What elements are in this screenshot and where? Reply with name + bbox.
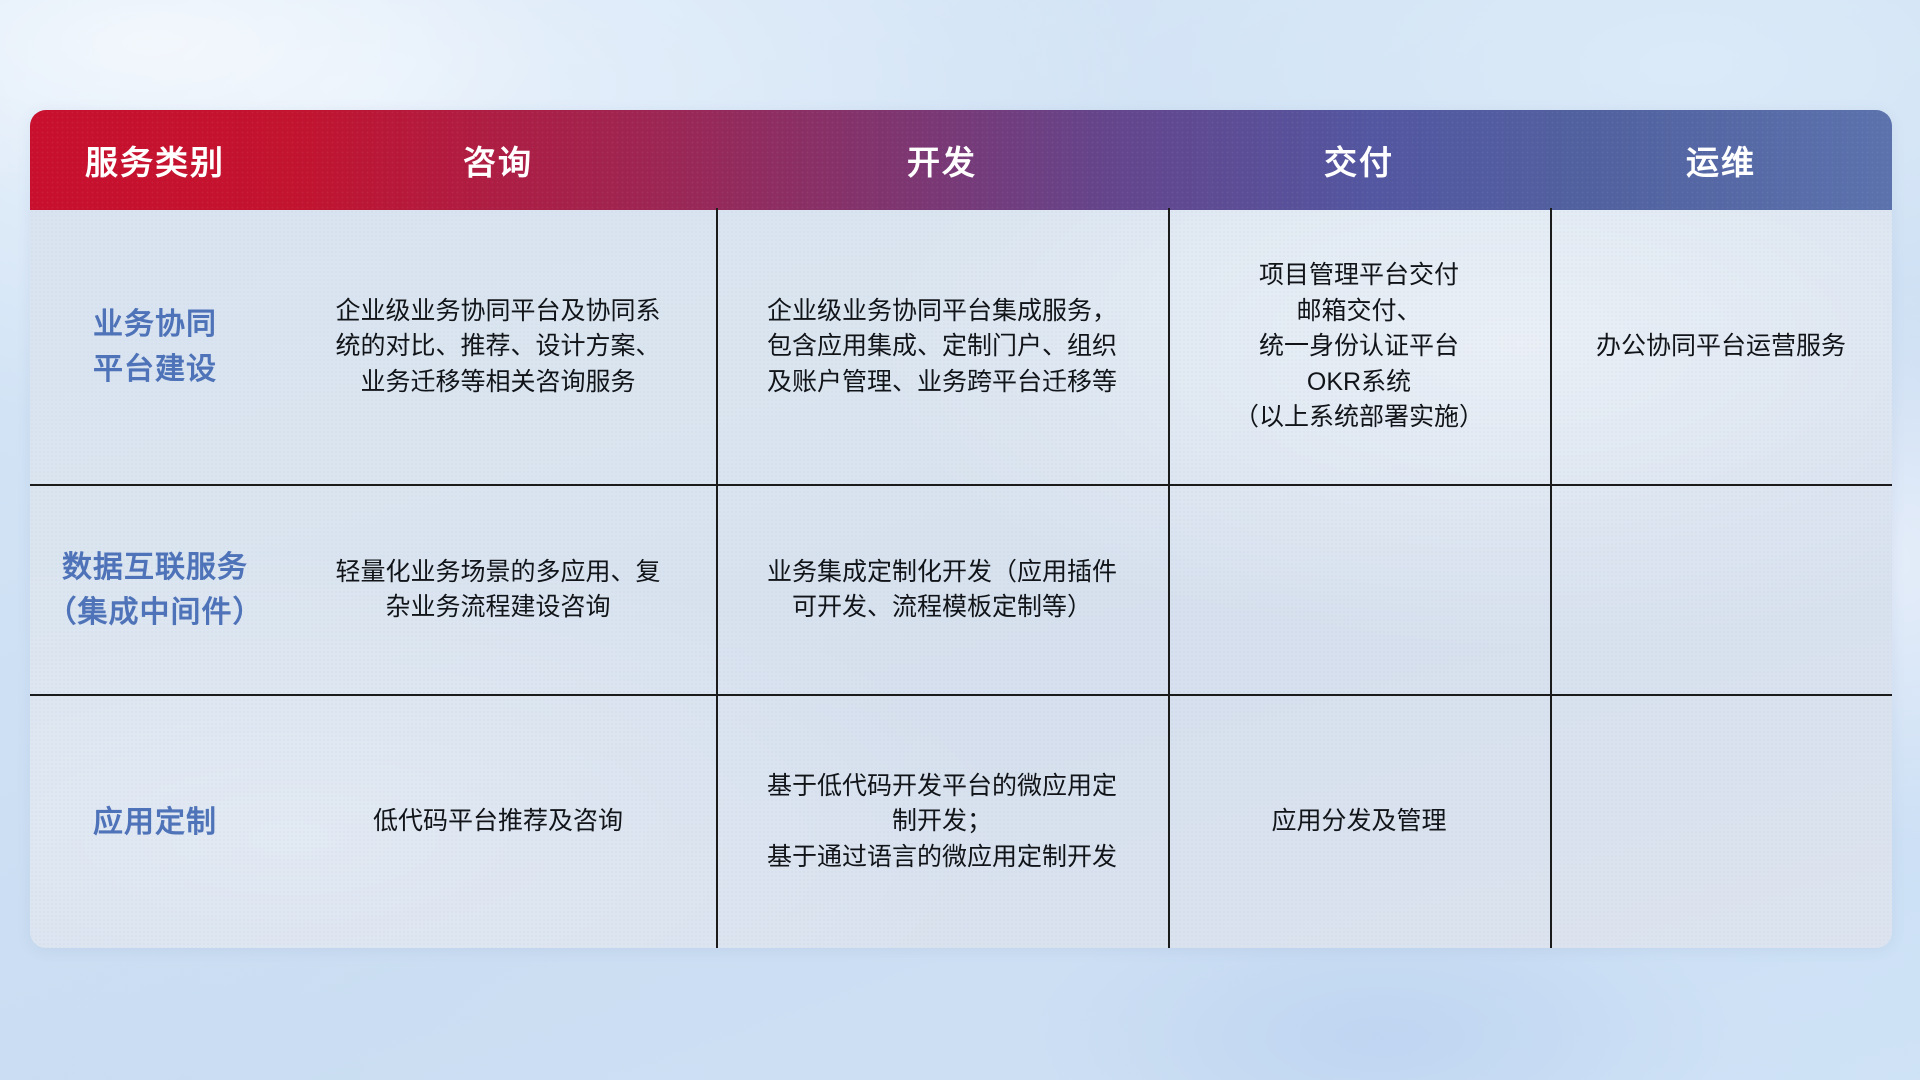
cell-operations (1550, 696, 1892, 948)
cell-category: 业务协同 平台建设 (30, 210, 280, 484)
column-header-operations: 运维 (1550, 136, 1892, 184)
cell-delivery (1168, 486, 1550, 694)
table-body: 业务协同 平台建设 企业级业务协同平台及协同系 统的对比、推荐、设计方案、 业务… (30, 210, 1892, 948)
cell-development: 基于低代码开发平台的微应用定 制开发； 基于通过语言的微应用定制开发 (716, 696, 1168, 948)
table-row: 应用定制 低代码平台推荐及咨询 基于低代码开发平台的微应用定 制开发； 基于通过… (30, 696, 1892, 948)
table-row: 业务协同 平台建设 企业级业务协同平台及协同系 统的对比、推荐、设计方案、 业务… (30, 210, 1892, 486)
cell-category: 数据互联服务 （集成中间件） (30, 486, 280, 694)
cell-category: 应用定制 (30, 696, 280, 948)
column-header-delivery: 交付 (1168, 136, 1550, 184)
column-header-category: 服务类别 (30, 136, 280, 184)
cell-development: 企业级业务协同平台集成服务， 包含应用集成、定制门户、组织 及账户管理、业务跨平… (716, 210, 1168, 484)
service-matrix-table: 服务类别 咨询 开发 交付 运维 业务协同 平台建设 企业级业务协同平台及协同系… (30, 110, 1892, 948)
cell-operations: 办公协同平台运营服务 (1550, 210, 1892, 484)
table-header-row: 服务类别 咨询 开发 交付 运维 (30, 110, 1892, 210)
column-header-consulting: 咨询 (280, 136, 716, 184)
cell-consulting: 低代码平台推荐及咨询 (280, 696, 716, 948)
cell-operations (1550, 486, 1892, 694)
cell-delivery: 项目管理平台交付 邮箱交付、 统一身份认证平台 OKR系统 （以上系统部署实施） (1168, 210, 1550, 484)
cell-development: 业务集成定制化开发（应用插件 可开发、流程模板定制等） (716, 486, 1168, 694)
cell-consulting: 轻量化业务场景的多应用、复 杂业务流程建设咨询 (280, 486, 716, 694)
cell-consulting: 企业级业务协同平台及协同系 统的对比、推荐、设计方案、 业务迁移等相关咨询服务 (280, 210, 716, 484)
table-row: 数据互联服务 （集成中间件） 轻量化业务场景的多应用、复 杂业务流程建设咨询 业… (30, 486, 1892, 696)
column-header-development: 开发 (716, 136, 1168, 184)
cell-delivery: 应用分发及管理 (1168, 696, 1550, 948)
